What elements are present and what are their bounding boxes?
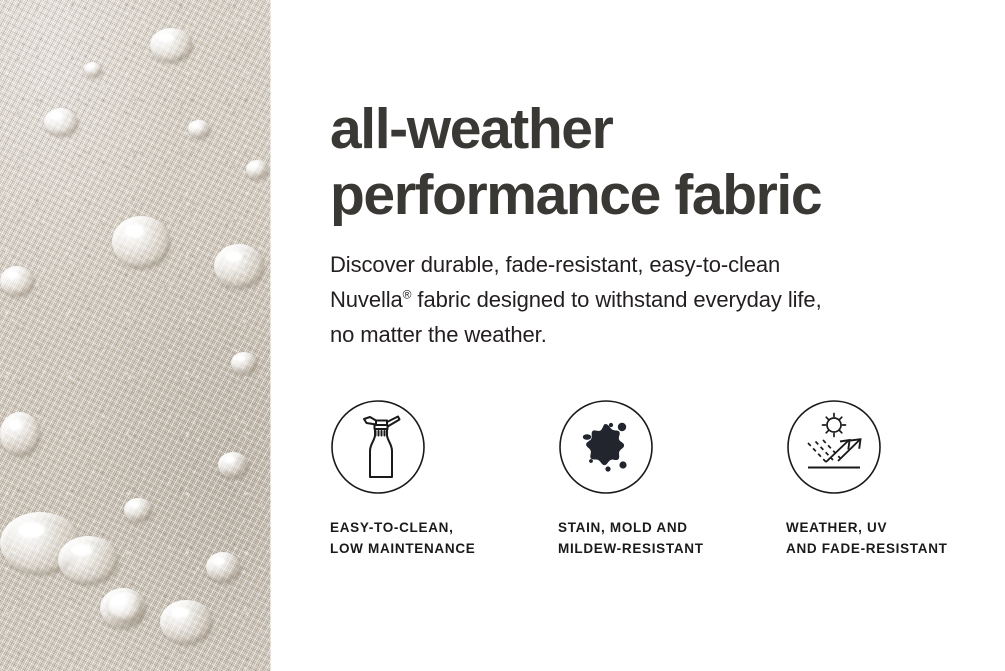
water-droplet — [108, 592, 142, 622]
water-droplet — [160, 600, 212, 644]
all-weather-fabric-banner: all-weather performance fabric Discover … — [0, 0, 1005, 671]
subcopy-brand: Nuvella — [330, 287, 403, 312]
water-droplet — [84, 62, 102, 77]
stain-splat-icon — [558, 399, 654, 495]
feature-caption: STAIN, MOLD AND MILDEW-RESISTANT — [558, 517, 786, 559]
sun-uv-reflect-icon — [786, 399, 882, 495]
water-droplet — [150, 28, 192, 62]
water-droplet — [246, 160, 268, 179]
feature-caption: EASY-TO-CLEAN, LOW MAINTENANCE — [330, 517, 558, 559]
subcopy-line-3: no matter the weather. — [330, 322, 547, 347]
water-droplet — [0, 266, 34, 296]
feature-stain-resistant: STAIN, MOLD AND MILDEW-RESISTANT — [558, 399, 786, 559]
spray-bottle-icon — [330, 399, 426, 495]
feature-easy-to-clean: EASY-TO-CLEAN, LOW MAINTENANCE — [330, 399, 558, 559]
water-droplet — [206, 552, 240, 582]
feature-weather-uv-resistant: WEATHER, UV AND FADE-RESISTANT — [786, 399, 996, 559]
feature-list: EASY-TO-CLEAN, LOW MAINTENANCE STAIN, MO… — [330, 399, 996, 559]
page-title: all-weather performance fabric — [330, 96, 821, 228]
water-droplet — [124, 498, 152, 522]
water-droplet — [44, 108, 78, 136]
water-droplet — [0, 412, 40, 456]
water-droplet — [231, 352, 257, 374]
water-droplet — [112, 216, 170, 268]
water-droplet — [188, 120, 210, 138]
subcopy: Discover durable, fade-resistant, easy-t… — [330, 247, 822, 352]
feature-caption: WEATHER, UV AND FADE-RESISTANT — [786, 517, 996, 559]
subcopy-line-1: Discover durable, fade-resistant, easy-t… — [330, 252, 780, 277]
water-droplet — [58, 536, 118, 584]
water-droplet — [218, 452, 248, 478]
water-droplet — [214, 244, 264, 288]
fabric-photo-panel — [0, 0, 271, 671]
content-panel: all-weather performance fabric Discover … — [271, 0, 1005, 671]
subcopy-line-2: fabric designed to withstand everyday li… — [411, 287, 821, 312]
